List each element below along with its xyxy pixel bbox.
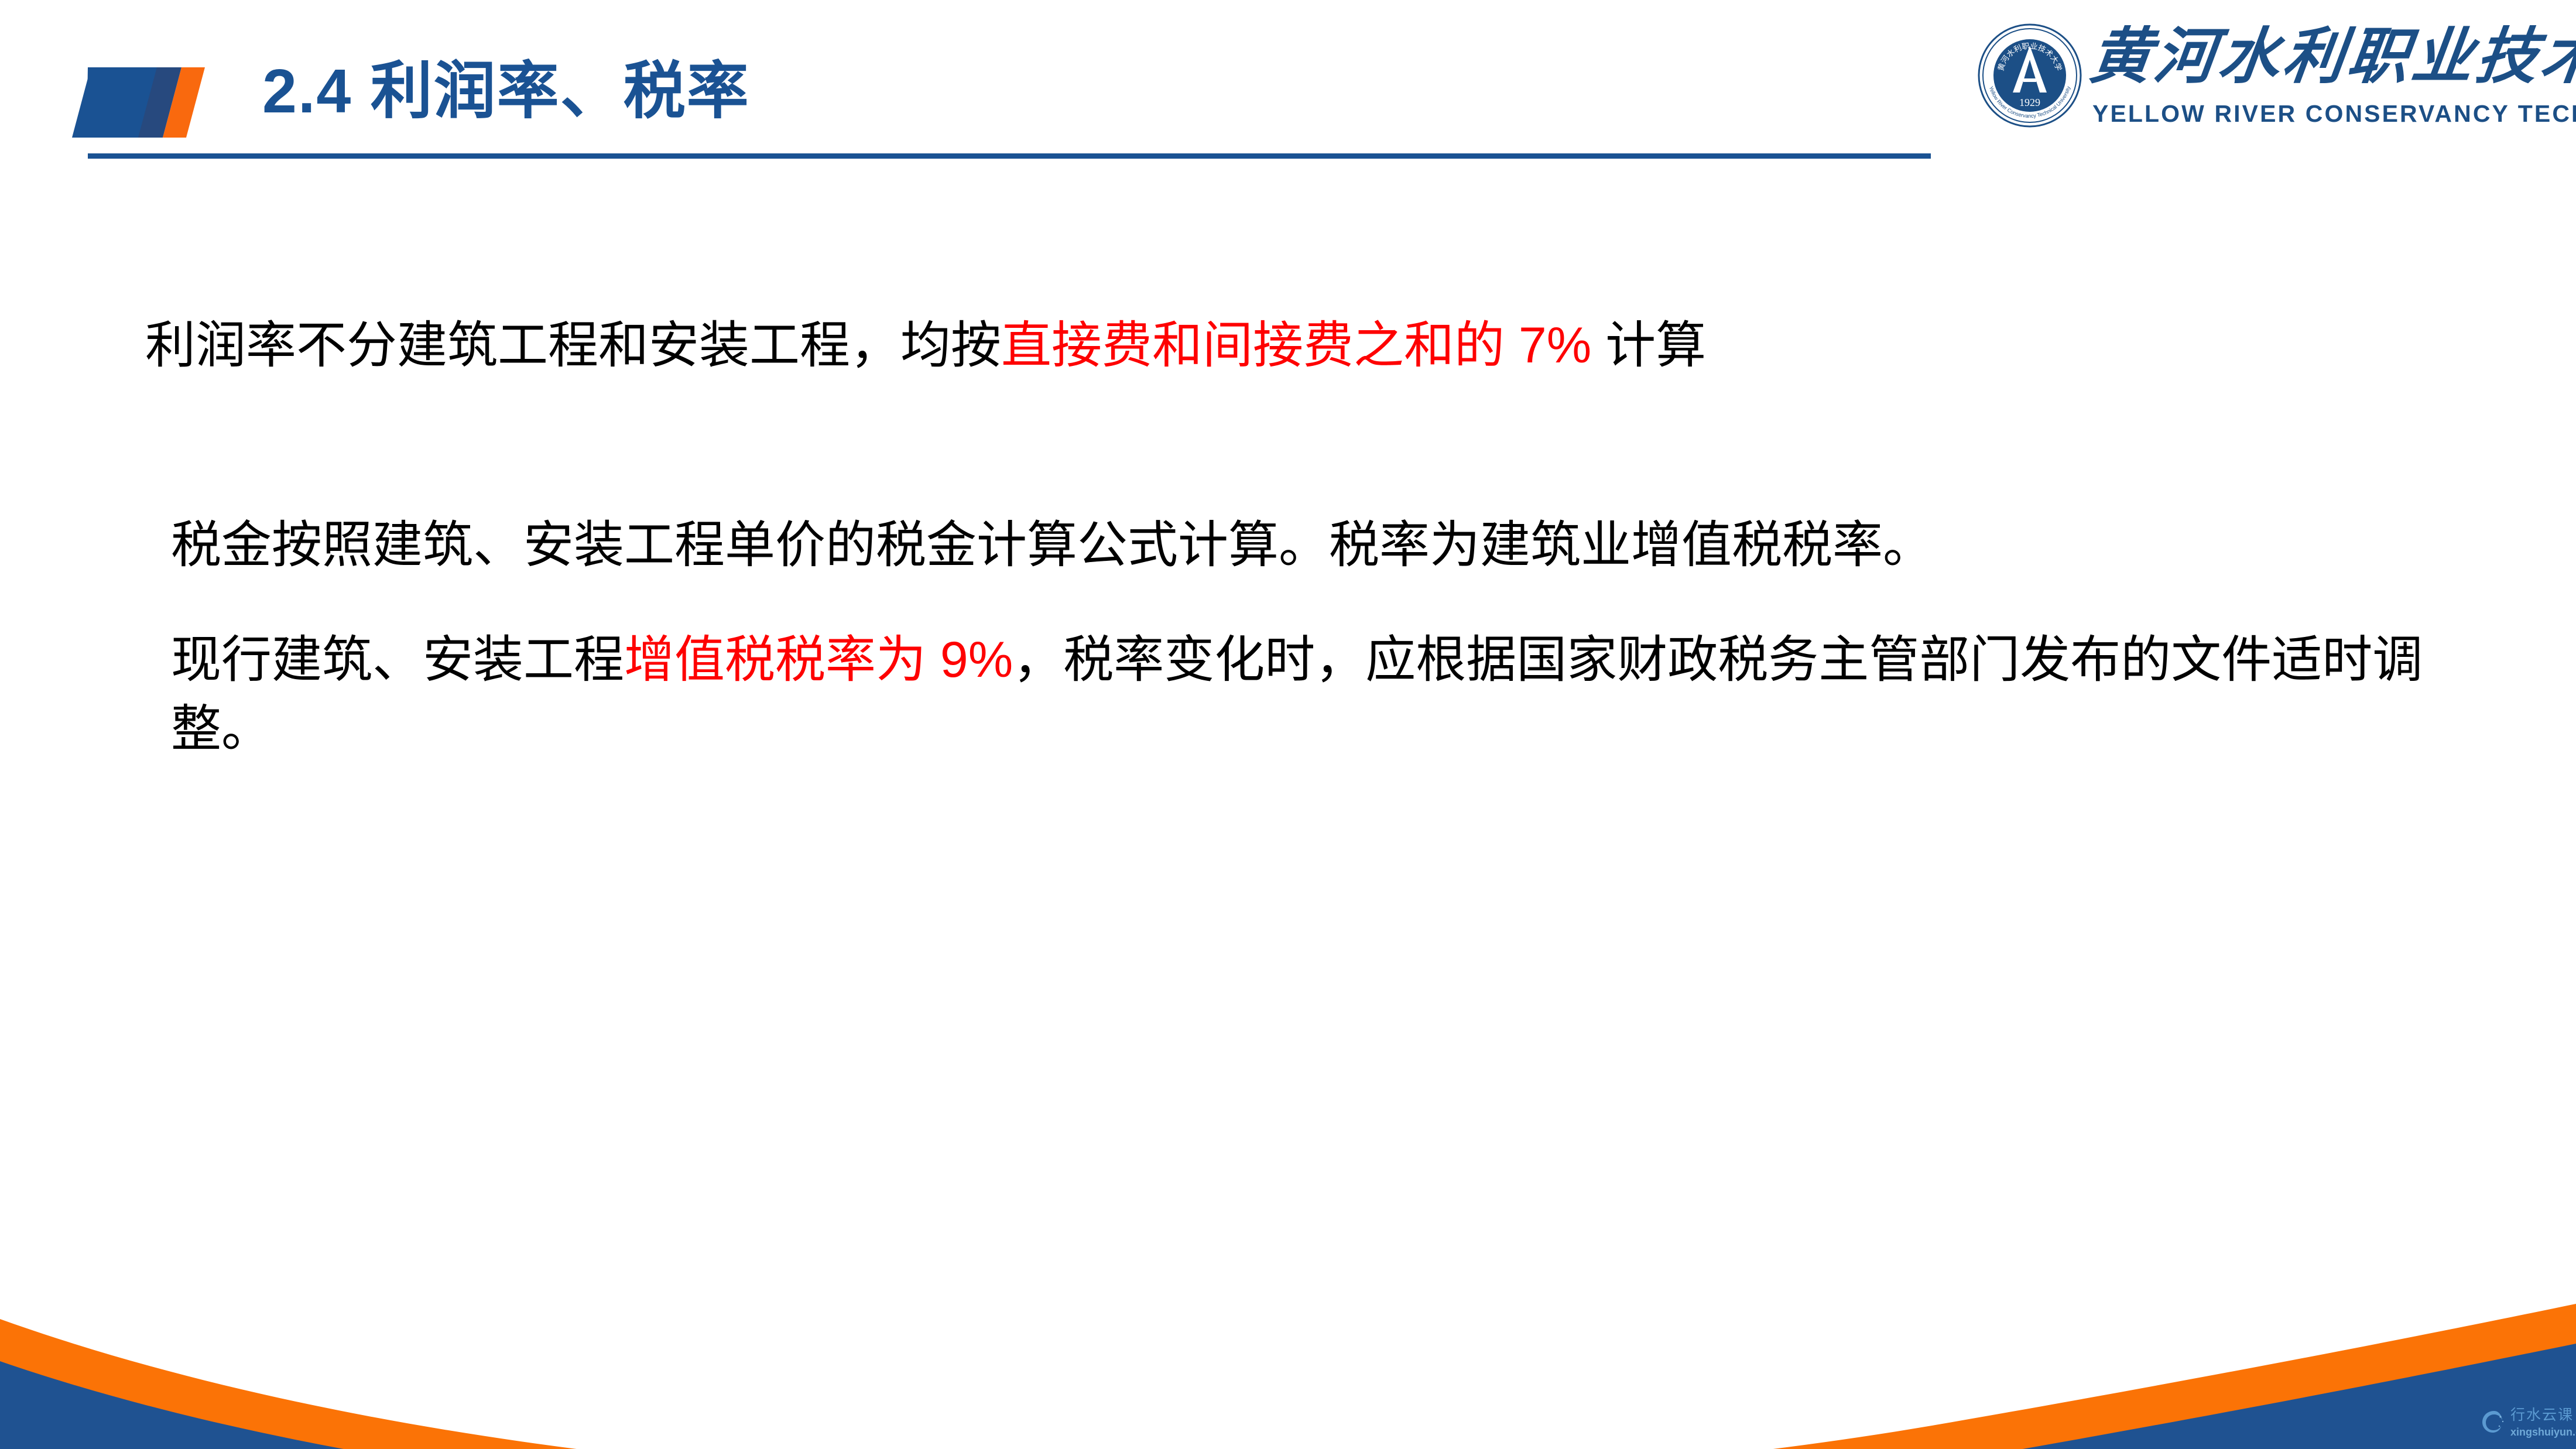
watermark-brand: 行水云课	[2510, 1408, 2574, 1423]
paragraph-profit-rate: 利润率不分建筑工程和安装工程，均按直接费和间接费之和的 7% 计算	[145, 311, 2428, 380]
svg-text:1929: 1929	[2019, 97, 2040, 108]
bottom-wave-decoration	[0, 1250, 2576, 1449]
logo-wordmark-cn: 黄河水利职业技术大学	[2085, 20, 2563, 95]
title-decor-bars	[0, 0, 293, 170]
watermark-url: xingshuiyun.com	[2510, 1427, 2576, 1437]
paragraph-1-highlight: 直接费和间接费之和的 7%	[1001, 317, 1591, 374]
wave-icon	[2481, 1409, 2507, 1434]
title-underline-rule	[88, 153, 1931, 159]
slide-canvas: 2.4 利润率、税率 黄河水利职业技术大学 Yellow River Conse…	[0, 0, 2576, 1449]
paragraph-1-suffix: 计算	[1591, 317, 1706, 374]
paragraph-3-suffix: ，税率变化时，应根据国家财政税务主管部门发布的文件适时调整。	[171, 632, 2423, 757]
paragraph-2-text: 税金按照建筑、安装工程单价的税金计算公式计算。税率为建筑业增值税税率。	[171, 517, 1933, 573]
page-title: 2.4 利润率、税率	[262, 56, 750, 128]
university-emblem-icon: 黄河水利职业技术大学 Yellow River Conservancy Tech…	[1978, 23, 2082, 128]
paragraph-vat-rate: 现行建筑、安装工程增值税税率为 9%，税率变化时，应根据国家财政税务主管部门发布…	[171, 625, 2431, 763]
paragraph-3-highlight: 增值税税率为 9%	[624, 632, 1013, 688]
slide-body: 利润率不分建筑工程和安装工程，均按直接费和间接费之和的 7% 计算 税金按照建筑…	[0, 0, 2576, 1449]
paragraph-tax-formula: 税金按照建筑、安装工程单价的税金计算公式计算。税率为建筑业增值税税率。	[171, 511, 2483, 580]
watermark: 行水云课 xingshuiyun.com	[2481, 1407, 2576, 1444]
paragraph-3-prefix: 现行建筑、安装工程	[171, 632, 624, 688]
university-logo: 黄河水利职业技术大学 Yellow River Conservancy Tech…	[1978, 15, 2563, 135]
paragraph-1-prefix: 利润率不分建筑工程和安装工程，均按	[145, 317, 1001, 374]
logo-wordmark-en: YELLOW RIVER CONSERVANCY TECHNICAL UNIVE…	[2092, 102, 2576, 126]
